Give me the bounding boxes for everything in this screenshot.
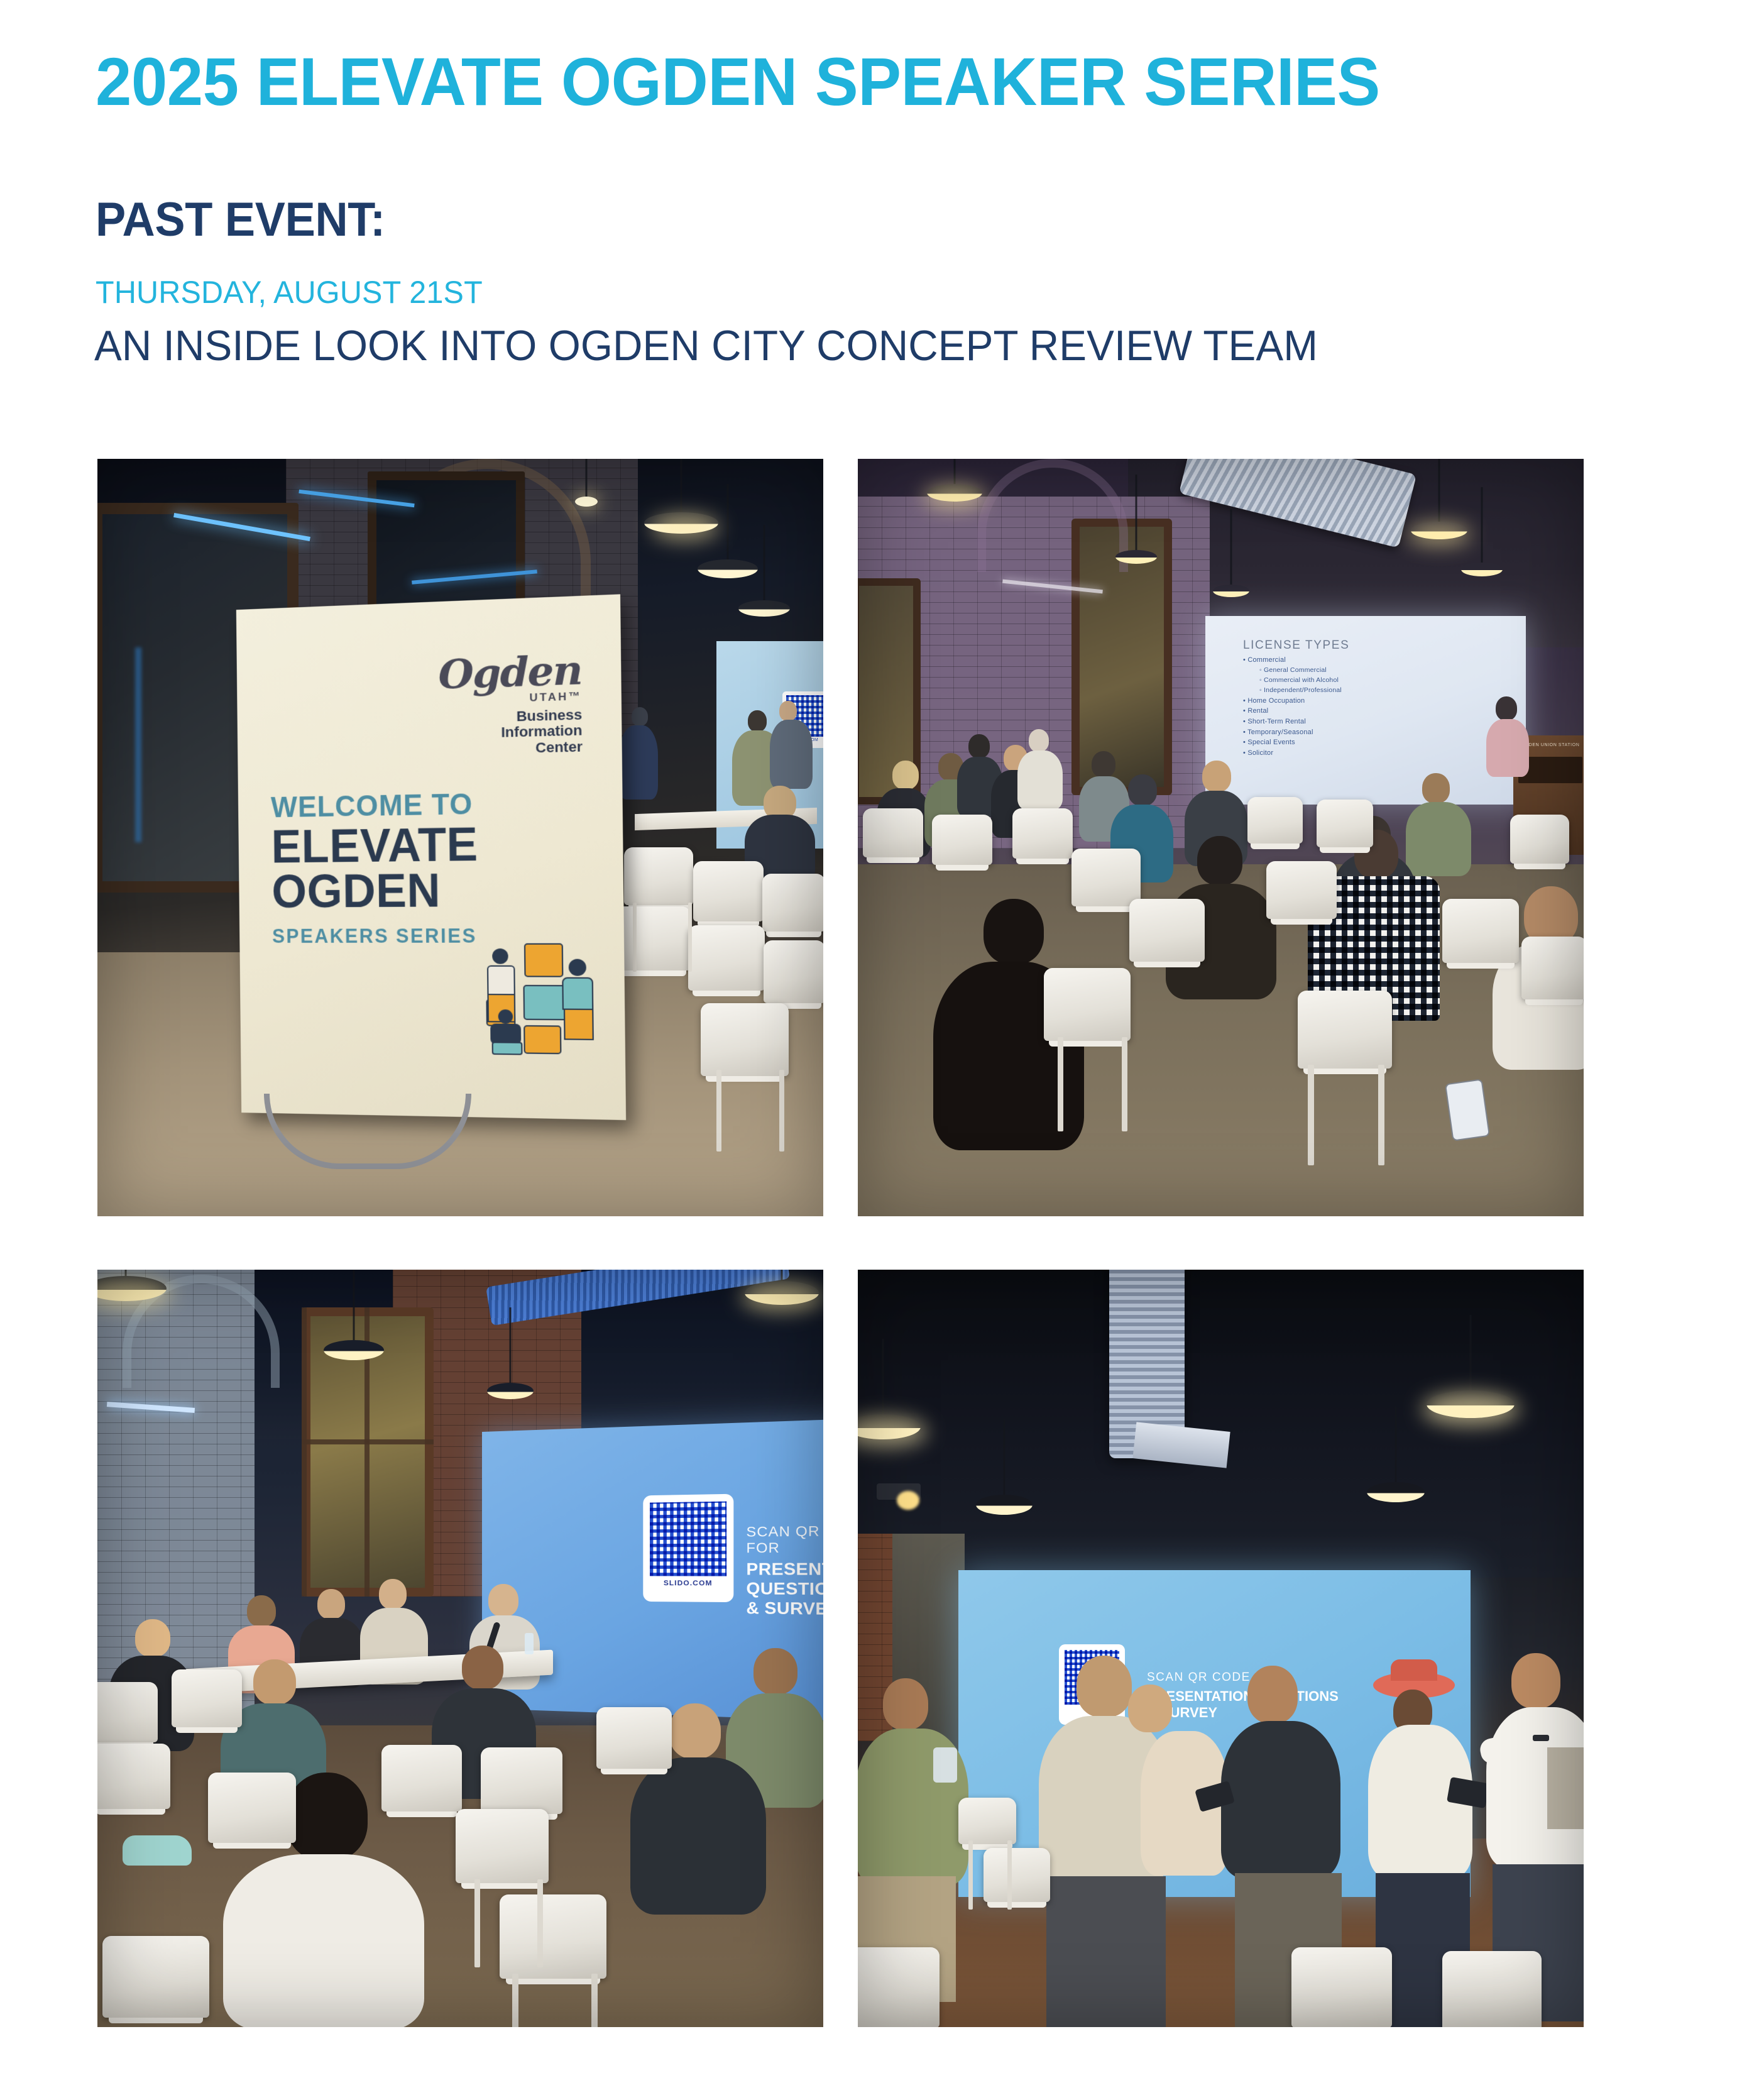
slide-line-3: & SURVEY bbox=[1147, 1705, 1339, 1721]
slide-bullet: General Commercial bbox=[1259, 666, 1516, 676]
projection-screen: LICENSE TYPES Commercial General Commerc… bbox=[1205, 616, 1526, 805]
gallery-photo-license-types-slide: LICENSE TYPES Commercial General Commerc… bbox=[858, 459, 1584, 1216]
slide-bullet: Home Occupation bbox=[1243, 696, 1516, 706]
slide-bullet: Commercial with Alcohol bbox=[1259, 676, 1516, 686]
flyer-page: 2025 ELEVATE OGDEN SPEAKER SERIES PAST E… bbox=[0, 0, 1737, 2100]
slide-line-2: PRESENTATION QUESTIONS bbox=[746, 1559, 823, 1600]
slide-bullet: Solicitor bbox=[1243, 748, 1516, 759]
event-subject: AN INSIDE LOOK INTO OGDEN CITY CONCEPT R… bbox=[94, 324, 1318, 367]
section-label-past-event: PAST EVENT: bbox=[96, 196, 385, 244]
slide-line-3: & SURVEY bbox=[746, 1599, 823, 1620]
qr-code-icon bbox=[650, 1502, 726, 1576]
slide-line-2: PRESENTATION QUESTIONS bbox=[1147, 1688, 1339, 1705]
slide-bullet: Special Events bbox=[1243, 737, 1516, 748]
slide-bullet: Temporary/Seasonal bbox=[1243, 727, 1516, 738]
slide-bullet: Short-Term Rental bbox=[1243, 717, 1516, 727]
slide-line-1: SCAN QR CODE FOR bbox=[746, 1523, 823, 1557]
slide-title: LICENSE TYPES bbox=[1243, 639, 1516, 652]
gallery-photo-welcome-sign: SLIDO.COM bbox=[97, 459, 823, 1216]
slide-license-types: LICENSE TYPES Commercial General Commerc… bbox=[1243, 639, 1516, 759]
slide-bullet: Independent/Professional bbox=[1259, 686, 1516, 696]
slide-line-1: SCAN QR CODE FOR bbox=[1147, 1671, 1339, 1685]
welcome-sign: Ogden UTAH™ Business Information Center … bbox=[236, 594, 626, 1120]
slido-qr-card: SLIDO.COM bbox=[643, 1494, 733, 1602]
slide-bullet: Commercial bbox=[1243, 655, 1516, 666]
sign-brand-line-1: ELEVATE bbox=[271, 820, 574, 869]
sign-illustration bbox=[481, 942, 603, 1057]
gallery-photo-networking: SCAN QR CODE FOR PRESENTATION QUESTIONS … bbox=[858, 1270, 1584, 2027]
slide-scan-qr-copy: SCAN QR CODE FOR PRESENTATION QUESTIONS … bbox=[1147, 1671, 1339, 1721]
sign-brand-line-2: OGDEN bbox=[271, 866, 575, 914]
qr-label: SLIDO.COM bbox=[650, 1580, 726, 1588]
header: 2025 ELEVATE OGDEN SPEAKER SERIES bbox=[96, 48, 1729, 116]
slide-scan-qr-copy: SCAN QR CODE FOR PRESENTATION QUESTIONS … bbox=[746, 1523, 823, 1620]
slide-bullet: Rental bbox=[1243, 706, 1516, 717]
ogden-logo: Ogden UTAH™ Business Information Center bbox=[270, 652, 587, 762]
page-title: 2025 ELEVATE OGDEN SPEAKER SERIES bbox=[96, 48, 1656, 116]
gallery-photo-panel-discussion: SLIDO.COM SCAN QR CODE FOR PRESENTATION … bbox=[97, 1270, 823, 2027]
slide-bullet-list: Commercial General Commercial Commercial… bbox=[1243, 655, 1516, 759]
photo-gallery-grid: SLIDO.COM bbox=[97, 459, 1584, 2027]
event-date: THURSDAY, AUGUST 21ST bbox=[96, 277, 483, 308]
